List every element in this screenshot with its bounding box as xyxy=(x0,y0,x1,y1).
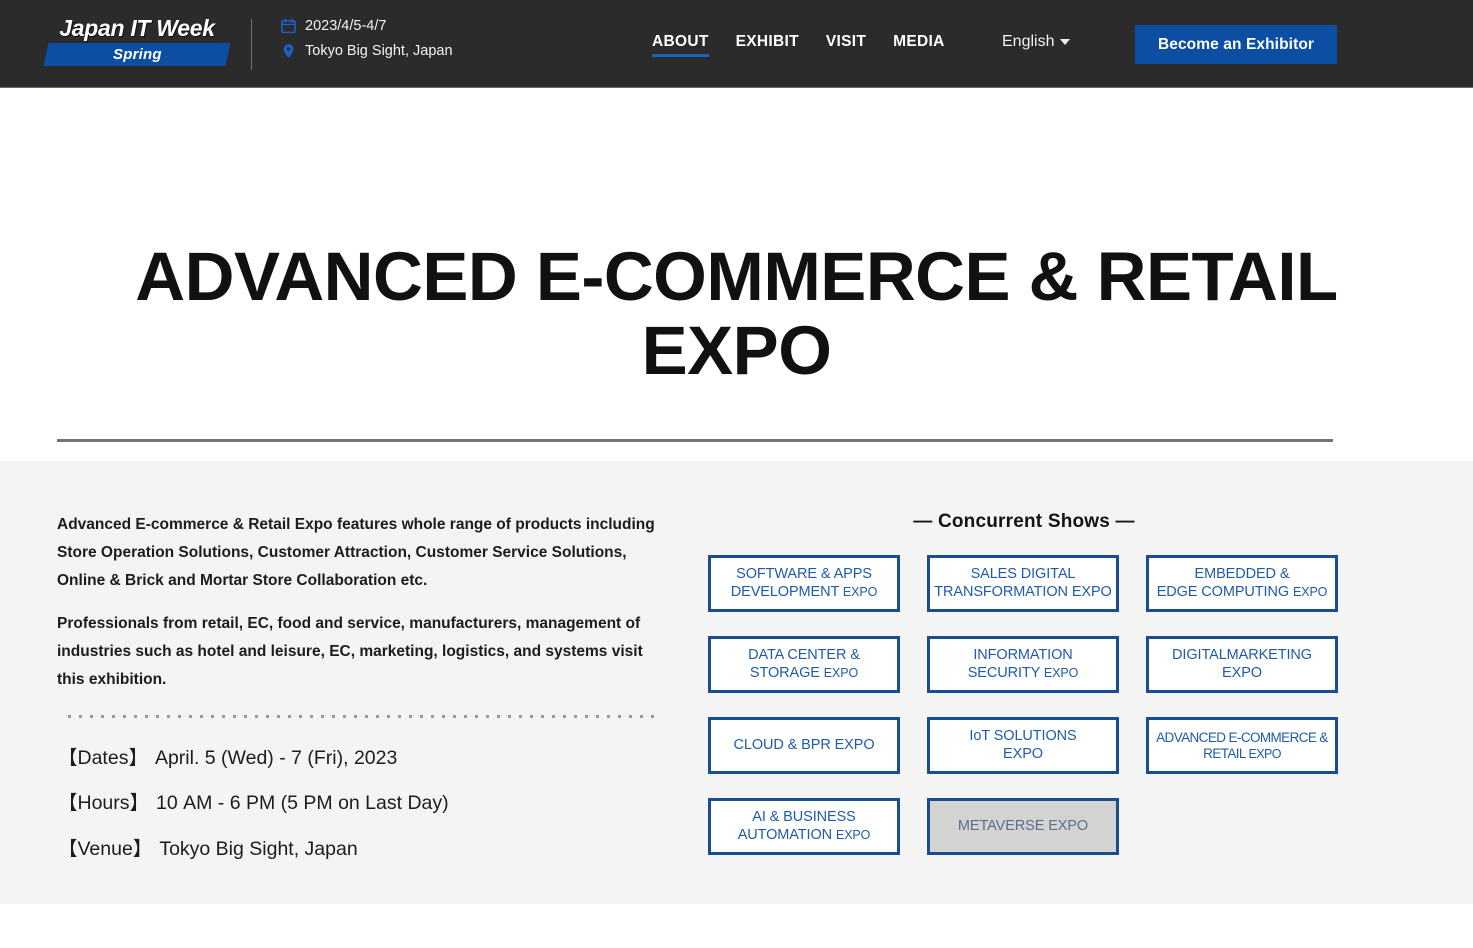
header-divider xyxy=(251,19,252,70)
concurrent-shows-grid: SOFTWARE & APPSDEVELOPMENT EXPO SALES DI… xyxy=(708,555,1340,855)
show-box-label: ADVANCED E-COMMERCE &RETAIL EXPO xyxy=(1156,730,1328,762)
site-header: Japan IT Week Spring 2023/4/5-4/7 Tokyo … xyxy=(0,0,1473,88)
dates-label: 【Dates】 xyxy=(58,747,148,769)
become-an-exhibitor-button[interactable]: Become an Exhibitor xyxy=(1135,25,1337,64)
main-navigation: ABOUT EXHIBIT VISIT MEDIA xyxy=(652,33,945,57)
logo-title: Japan IT Week xyxy=(46,17,228,40)
about-description: Advanced E-commerce & Retail Expo featur… xyxy=(57,511,657,708)
show-box-embedded-edge-computing-expo[interactable]: EMBEDDED &EDGE COMPUTING EXPO xyxy=(1146,555,1338,612)
show-box-metaverse-expo[interactable]: METAVERSE EXPO xyxy=(927,798,1119,855)
show-box-software-apps-development-expo[interactable]: SOFTWARE & APPSDEVELOPMENT EXPO xyxy=(708,555,900,612)
show-box-label: IoT SOLUTIONSEXPO xyxy=(969,728,1076,762)
show-box-label: SALES DIGITALTRANSFORMATION EXPO xyxy=(934,566,1111,600)
event-detail-hours: 【Hours】10 AM - 6 PM (5 PM on Last Day) xyxy=(58,793,449,814)
dotted-divider xyxy=(68,715,660,718)
calendar-icon xyxy=(281,18,296,34)
show-box-advanced-ecommerce-retail-expo[interactable]: ADVANCED E-COMMERCE &RETAIL EXPO xyxy=(1146,717,1338,774)
location-pin-icon xyxy=(281,43,296,59)
show-box-ai-business-automation-expo[interactable]: AI & BUSINESSAUTOMATION EXPO xyxy=(708,798,900,855)
about-section: Advanced E-commerce & Retail Expo featur… xyxy=(0,461,1473,904)
show-box-iot-solutions-expo[interactable]: IoT SOLUTIONSEXPO xyxy=(927,717,1119,774)
chevron-down-icon xyxy=(1060,39,1070,45)
event-location-text: Tokyo Big Sight, Japan xyxy=(305,44,453,59)
show-box-digitalmarketing-expo[interactable]: DIGITALMARKETINGEXPO xyxy=(1146,636,1338,693)
show-box-cloud-bpr-expo[interactable]: CLOUD & BPR EXPO xyxy=(708,717,900,774)
show-box-label: METAVERSE EXPO xyxy=(958,818,1088,835)
nav-item-exhibit[interactable]: EXHIBIT xyxy=(736,33,799,57)
nav-item-about[interactable]: ABOUT xyxy=(652,33,709,57)
show-box-label: AI & BUSINESSAUTOMATION EXPO xyxy=(738,809,871,843)
show-box-label: DATA CENTER &STORAGE EXPO xyxy=(748,647,860,681)
show-box-label: INFORMATIONSECURITY EXPO xyxy=(968,647,1079,681)
event-dates-row: 2023/4/5-4/7 xyxy=(281,18,453,34)
hours-label: 【Hours】 xyxy=(58,792,149,814)
event-detail-venue: 【Venue】Tokyo Big Sight, Japan xyxy=(58,839,449,860)
event-dates-text: 2023/4/5-4/7 xyxy=(305,19,386,34)
show-box-label: DIGITALMARKETINGEXPO xyxy=(1172,647,1312,681)
event-meta: 2023/4/5-4/7 Tokyo Big Sight, Japan xyxy=(281,18,453,59)
logo-season-badge: Spring xyxy=(44,43,231,66)
show-box-label: EMBEDDED &EDGE COMPUTING EXPO xyxy=(1157,566,1328,600)
show-box-label: CLOUD & BPR EXPO xyxy=(733,737,874,754)
show-box-information-security-expo[interactable]: INFORMATIONSECURITY EXPO xyxy=(927,636,1119,693)
concurrent-shows-heading: — Concurrent Shows — xyxy=(708,511,1340,533)
logo-season-label: Spring xyxy=(113,46,162,63)
about-paragraph-2: Professionals from retail, EC, food and … xyxy=(57,610,657,695)
nav-item-media[interactable]: MEDIA xyxy=(893,33,944,57)
event-location-row: Tokyo Big Sight, Japan xyxy=(281,43,453,59)
venue-label: 【Venue】 xyxy=(58,838,152,860)
event-details-list: 【Dates】April. 5 (Wed) - 7 (Fri), 2023 【H… xyxy=(58,748,449,860)
page-title: ADVANCED E-COMMERCE & RETAIL EXPO xyxy=(107,240,1367,388)
title-divider xyxy=(57,439,1333,442)
about-paragraph-1: Advanced E-commerce & Retail Expo featur… xyxy=(57,511,657,596)
language-label: English xyxy=(1002,33,1054,51)
hours-value: 10 AM - 6 PM (5 PM on Last Day) xyxy=(156,792,449,814)
event-detail-dates: 【Dates】April. 5 (Wed) - 7 (Fri), 2023 xyxy=(58,748,449,769)
concurrent-shows-panel: — Concurrent Shows — SOFTWARE & APPSDEVE… xyxy=(708,511,1340,855)
show-box-placeholder xyxy=(1146,798,1338,855)
show-box-sales-digital-transformation-expo[interactable]: SALES DIGITALTRANSFORMATION EXPO xyxy=(927,555,1119,612)
show-box-label: SOFTWARE & APPSDEVELOPMENT EXPO xyxy=(731,566,878,600)
nav-item-visit[interactable]: VISIT xyxy=(826,33,866,57)
show-box-data-center-storage-expo[interactable]: DATA CENTER &STORAGE EXPO xyxy=(708,636,900,693)
language-selector[interactable]: English xyxy=(1002,33,1070,51)
venue-value: Tokyo Big Sight, Japan xyxy=(159,838,357,860)
site-logo[interactable]: Japan IT Week Spring xyxy=(46,17,228,66)
hero-section: ADVANCED E-COMMERCE & RETAIL EXPO Japan'… xyxy=(0,88,1473,461)
dates-value: April. 5 (Wed) - 7 (Fri), 2023 xyxy=(155,747,397,769)
page-bottom-spacer xyxy=(0,904,1473,948)
